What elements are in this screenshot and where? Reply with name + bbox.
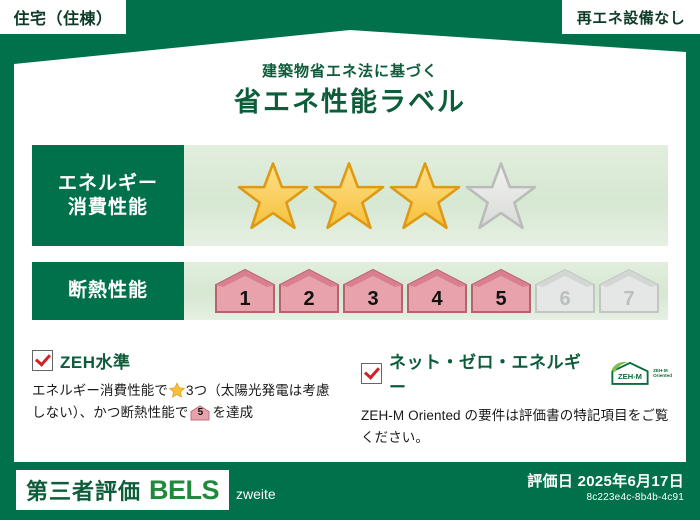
house-level-number: 7 bbox=[598, 289, 660, 309]
house-level-number: 6 bbox=[534, 289, 596, 309]
house-level-scale: 1234567 bbox=[214, 268, 660, 314]
building-type-tag: 住宅（住棟） bbox=[0, 0, 126, 34]
insulation-performance-label: 断熱性能 bbox=[32, 262, 184, 320]
house-level-filled: 1 bbox=[214, 268, 276, 314]
label-subtitle: 建築物省エネ法に基づく bbox=[0, 60, 700, 81]
evaluation-date-value: 2025年6月17日 bbox=[578, 473, 684, 490]
star-rating bbox=[236, 160, 538, 232]
star-filled-icon bbox=[388, 160, 462, 232]
checkbox-checked-icon bbox=[32, 350, 53, 371]
note-zeh-standard: ZEH水準 エネルギー消費性能で3つ（太陽光発電は考慮しない）、かつ断熱性能で5… bbox=[32, 348, 343, 449]
house-level-number: 2 bbox=[278, 289, 340, 309]
bels-logo: 第三者評価 BELS bbox=[16, 470, 229, 510]
house-level-number: 5 bbox=[470, 289, 532, 309]
bels-jp-text: 第三者評価 bbox=[26, 474, 141, 506]
insulation-rating-value: 1234567 bbox=[184, 262, 668, 320]
evaluation-id: 8c223e4c-8b4b-4c91 bbox=[586, 492, 684, 503]
renewable-equipment-tag: 再エネ設備なし bbox=[562, 0, 700, 34]
inline-house-number: 5 bbox=[190, 405, 210, 421]
zeh-standard-title: ZEH水準 bbox=[60, 348, 131, 373]
zeh-body-pre: エネルギー消費性能で bbox=[32, 383, 168, 398]
energy-performance-row: エネルギー 消費性能 bbox=[32, 145, 668, 246]
house-level-number: 3 bbox=[342, 289, 404, 309]
house-level-empty: 6 bbox=[534, 268, 596, 314]
note-net-zero-energy: ネット・ゼロ・エネルギー ZEH-M ZEH-M Oriented bbox=[361, 348, 672, 449]
house-level-number: 1 bbox=[214, 289, 276, 309]
house-level-empty: 7 bbox=[598, 268, 660, 314]
energy-label-line1: エネルギー bbox=[58, 172, 158, 196]
house-level-filled: 3 bbox=[342, 268, 404, 314]
inline-star-icon bbox=[169, 382, 185, 398]
notes-section: ZEH水準 エネルギー消費性能で3つ（太陽光発電は考慮しない）、かつ断熱性能で5… bbox=[32, 348, 672, 449]
star-filled-icon bbox=[236, 160, 310, 232]
zeh-m-caption-line2: Oriented bbox=[653, 373, 672, 378]
zeh-m-caption-line1: ZEH-M bbox=[653, 368, 668, 373]
house-level-filled: 2 bbox=[278, 268, 340, 314]
star-empty-icon bbox=[464, 160, 538, 232]
zeh-m-logo-caption: ZEH-M Oriented bbox=[653, 368, 672, 379]
net-zero-heading: ネット・ゼロ・エネルギー ZEH-M ZEH-M Oriented bbox=[361, 348, 672, 398]
star-filled-icon bbox=[312, 160, 386, 232]
evaluation-date-label: 評価日 bbox=[527, 473, 573, 490]
energy-performance-label: エネルギー 消費性能 bbox=[32, 145, 184, 246]
zeh-m-logo: ZEH-M ZEH-M Oriented bbox=[609, 360, 672, 386]
zeh-standard-body: エネルギー消費性能で3つ（太陽光発電は考慮しない）、かつ断熱性能で5を達成 bbox=[32, 380, 343, 424]
svg-text:ZEH-M: ZEH-M bbox=[618, 372, 642, 381]
energy-rating-value bbox=[184, 145, 668, 246]
insulation-label-text: 断熱性能 bbox=[68, 279, 148, 303]
page-title: 省エネ性能ラベル bbox=[0, 80, 700, 119]
footer-bar: 第三者評価 BELS zweite 評価日 2025年6月17日 8c223e4… bbox=[0, 462, 700, 520]
company-name: zweite bbox=[236, 486, 276, 502]
zeh-body-post: を達成 bbox=[212, 405, 253, 420]
zeh-m-house-icon: ZEH-M bbox=[609, 360, 651, 386]
insulation-performance-row: 断熱性能 1234567 bbox=[32, 262, 668, 320]
energy-label-line2: 消費性能 bbox=[68, 196, 148, 220]
zeh-standard-heading: ZEH水準 bbox=[32, 348, 343, 373]
inline-house-badge: 5 bbox=[190, 405, 210, 421]
net-zero-body: ZEH-M Oriented の要件は評価書の特記項目をご覧ください。 bbox=[361, 405, 672, 449]
house-level-filled: 4 bbox=[406, 268, 468, 314]
checkbox-checked-icon bbox=[361, 363, 382, 384]
house-level-filled: 5 bbox=[470, 268, 532, 314]
net-zero-title: ネット・ゼロ・エネルギー bbox=[389, 348, 597, 398]
energy-label-root: 住宅（住棟） 再エネ設備なし 建築物省エネ法に基づく 省エネ性能ラベル エネルギ… bbox=[0, 0, 700, 520]
evaluation-date: 評価日 2025年6月17日 bbox=[527, 470, 684, 491]
bels-en-text: BELS bbox=[149, 475, 219, 506]
house-level-number: 4 bbox=[406, 289, 468, 309]
